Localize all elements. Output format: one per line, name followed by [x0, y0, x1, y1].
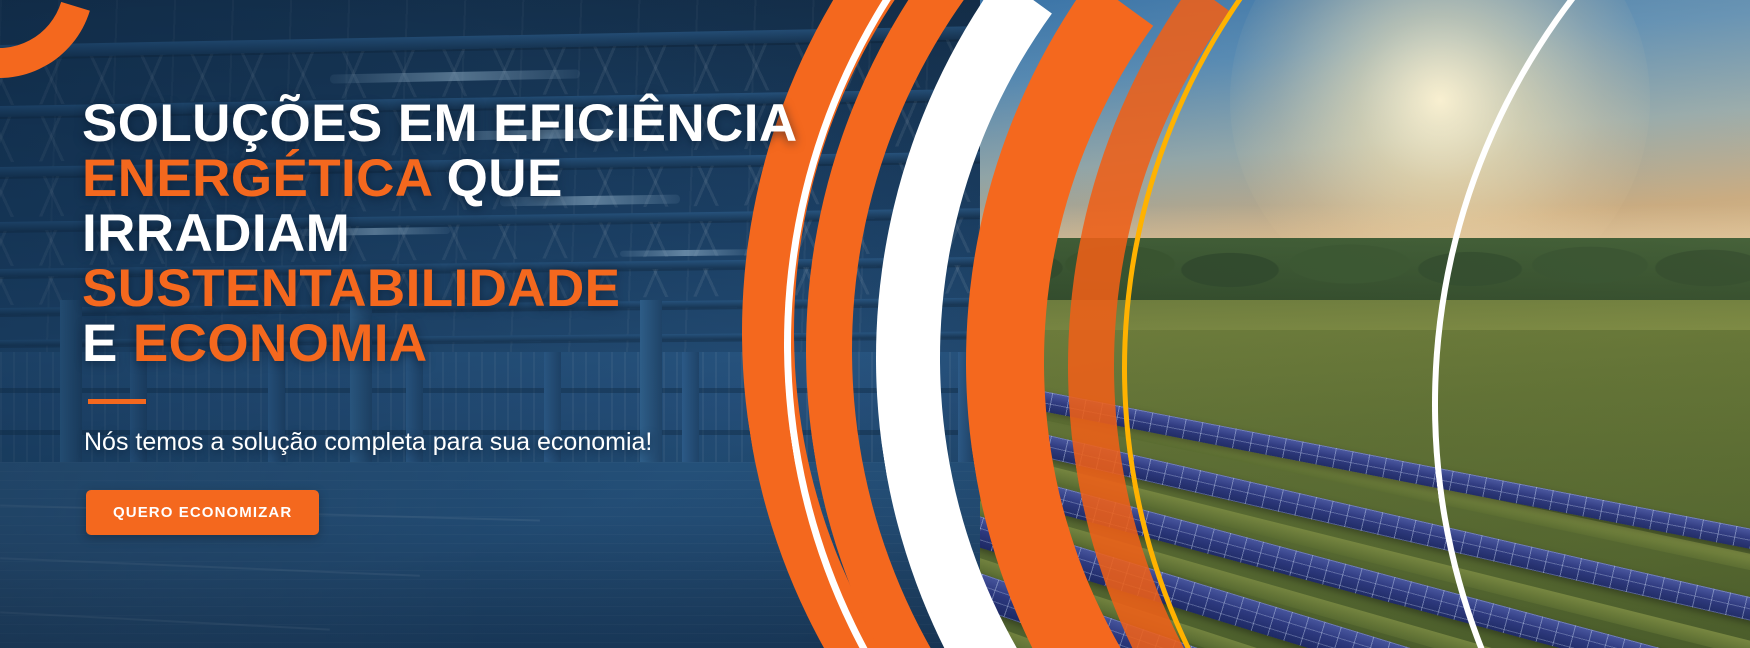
headline-text-orange: ENERGÉTICA [82, 149, 432, 208]
headline-text-orange: ECONOMIA [133, 314, 428, 373]
headline-text-white: QUE [432, 149, 563, 208]
hero-subtitle: Nós temos a solução completa para sua ec… [84, 427, 842, 457]
headline-line-2: ENERGÉTICA QUE [82, 151, 842, 206]
headline-line-3: IRRADIAM [82, 206, 842, 261]
headline-line-1: SOLUÇÕES EM EFICIÊNCIA [82, 96, 842, 151]
page-title: SOLUÇÕES EM EFICIÊNCIA ENERGÉTICA QUE IR… [82, 96, 842, 371]
quero-economizar-button[interactable]: QUERO ECONOMIZAR [86, 490, 319, 535]
headline-text-white: E [82, 314, 133, 373]
orange-divider-rule [88, 399, 146, 404]
headline-text-orange: SUSTENTABILIDADE [82, 259, 620, 318]
headline-text-white: IRRADIAM [82, 204, 350, 263]
headline-line-5: E ECONOMIA [82, 316, 842, 371]
hero-banner: SOLUÇÕES EM EFICIÊNCIA ENERGÉTICA QUE IR… [0, 0, 1750, 648]
hero-content: SOLUÇÕES EM EFICIÊNCIA ENERGÉTICA QUE IR… [82, 96, 842, 535]
headline-text-white: SOLUÇÕES EM EFICIÊNCIA [82, 94, 798, 153]
headline-line-4: SUSTENTABILIDADE [82, 261, 842, 316]
